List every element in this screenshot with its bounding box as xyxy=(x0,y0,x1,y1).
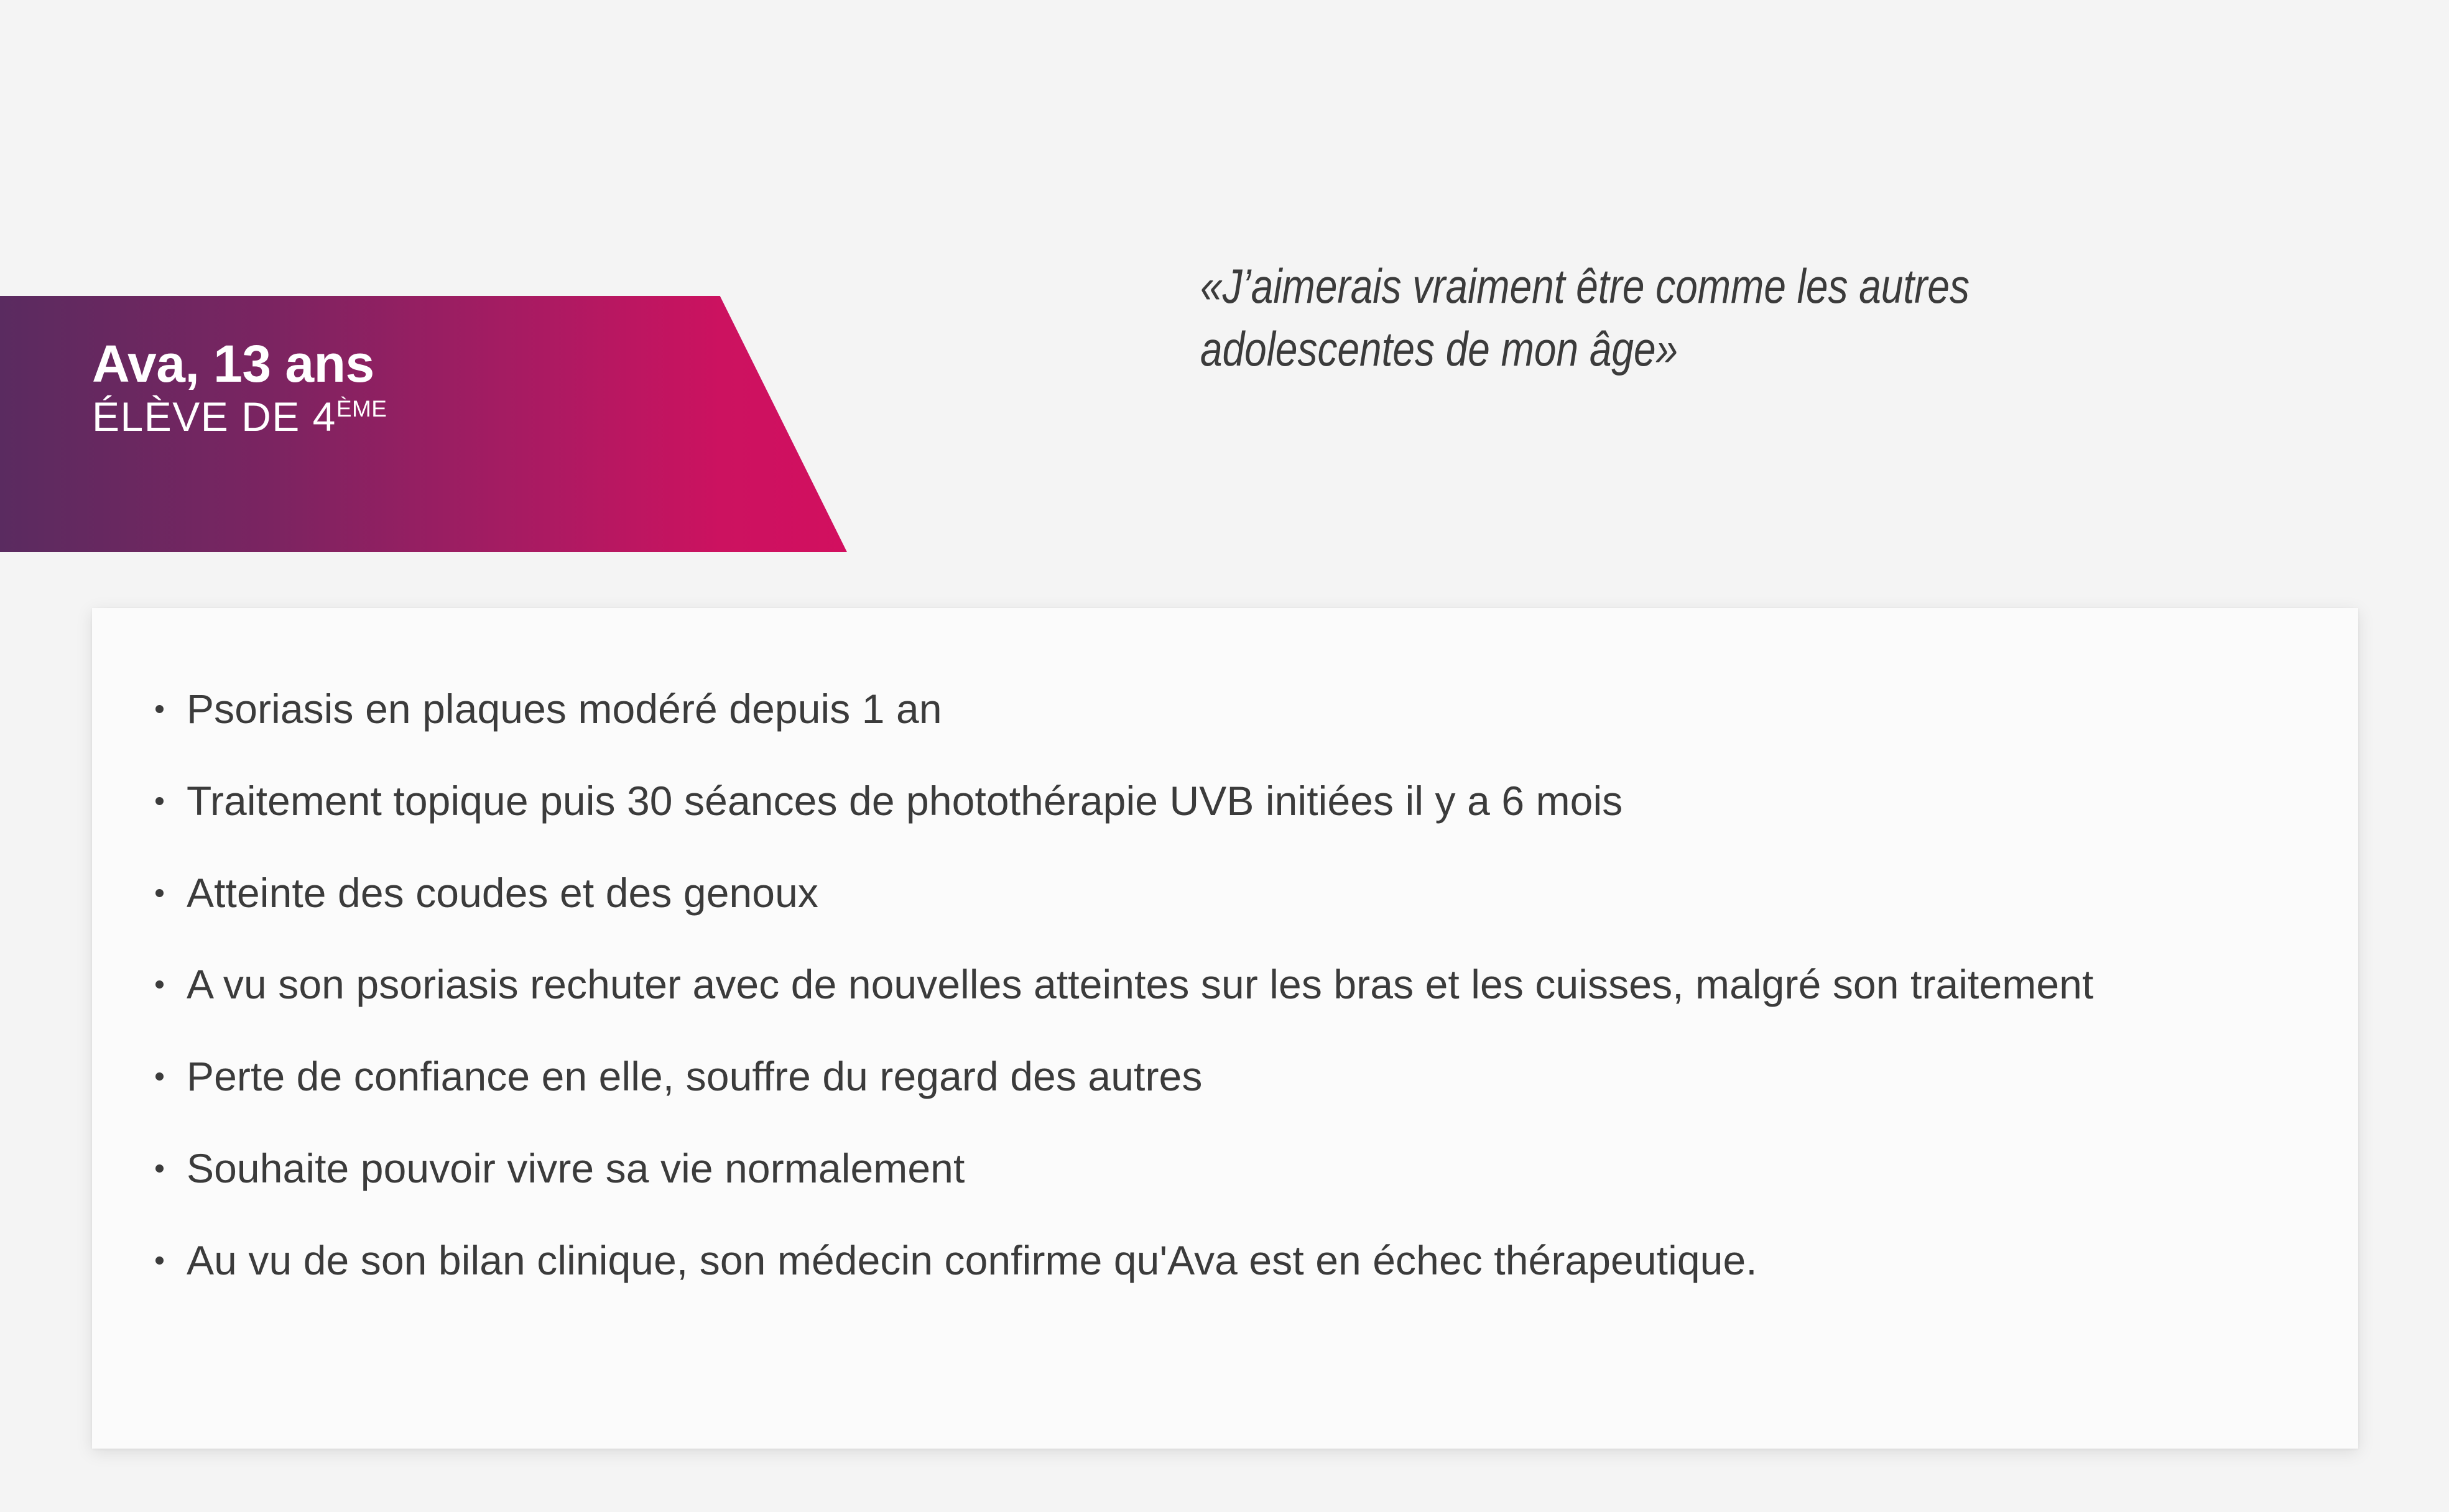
patient-grade: ÉLÈVE DE 4ÈME xyxy=(92,395,847,439)
list-item: A vu son psoriasis rechuter avec de nouv… xyxy=(129,958,2277,1012)
grade-suffix-superscript: ÈME xyxy=(336,396,387,422)
list-item: Atteinte des coudes et des genoux xyxy=(129,867,2277,920)
top-banner-decoration xyxy=(0,0,2449,172)
list-item: Souhaite pouvoir vivre sa vie normalemen… xyxy=(129,1142,2277,1196)
clinical-info-card: Psoriasis en plaques modéré depuis 1 an … xyxy=(92,608,2358,1449)
patient-name-age: Ava, 13 ans xyxy=(92,337,847,391)
clinical-bullet-list: Psoriasis en plaques modéré depuis 1 an … xyxy=(129,683,2277,1288)
slide-root: Ava, 13 ans ÉLÈVE DE 4ÈME «J’aimerais vr… xyxy=(0,0,2449,1512)
list-item: Traitement topique puis 30 séances de ph… xyxy=(129,775,2277,828)
patient-quote: «J’aimerais vraiment être comme les autr… xyxy=(1200,255,2118,381)
grade-prefix-text: ÉLÈVE DE 4 xyxy=(92,394,336,440)
list-item: Au vu de son bilan clinique, son médecin… xyxy=(129,1234,2277,1288)
list-item: Perte de confiance en elle, souffre du r… xyxy=(129,1050,2277,1104)
list-item: Psoriasis en plaques modéré depuis 1 an xyxy=(129,683,2277,736)
patient-name-badge: Ava, 13 ans ÉLÈVE DE 4ÈME xyxy=(0,296,847,552)
